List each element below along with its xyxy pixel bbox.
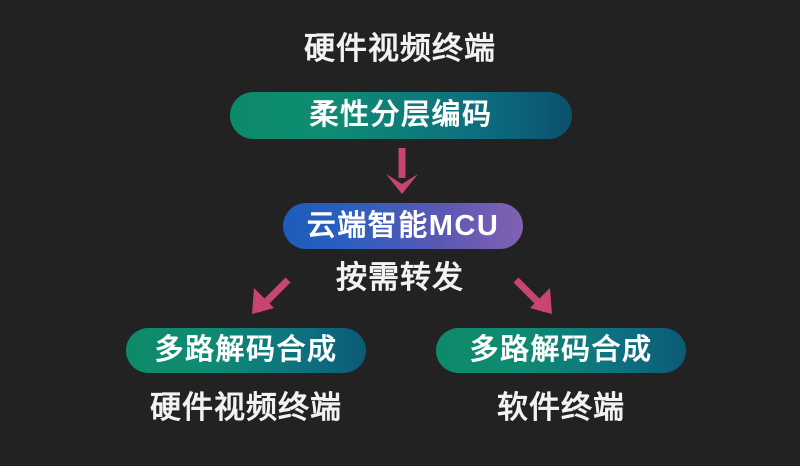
cloud-mcu-pill-node[interactable]: 云端智能MCU xyxy=(283,203,523,249)
decode-pill-node-left[interactable]: 多路解码合成 xyxy=(126,328,366,373)
decode-pill-label-left: 多路解码合成 xyxy=(154,336,337,365)
top-terminal-label: 硬件视频终端 xyxy=(0,33,800,64)
encode-pill-label: 柔性分层编码 xyxy=(309,101,492,130)
bottom-software-terminal-label: 软件终端 xyxy=(436,392,686,423)
arrow-down-right-icon xyxy=(512,278,556,318)
bottom-hardware-terminal-label: 硬件视频终端 xyxy=(126,392,366,423)
decode-pill-node-right[interactable]: 多路解码合成 xyxy=(436,328,686,373)
on-demand-forward-label: 按需转发 xyxy=(0,262,800,293)
cloud-mcu-pill-label: 云端智能MCU xyxy=(307,212,500,241)
flow-diagram-canvas: 硬件视频终端 柔性分层编码 云端智能MCU 按需转发 多路解码合成 多路解码合成… xyxy=(0,0,800,466)
arrow-down-left-icon xyxy=(248,278,292,318)
arrow-down-icon xyxy=(382,148,422,196)
decode-pill-label-right: 多路解码合成 xyxy=(469,336,652,365)
encode-pill-node[interactable]: 柔性分层编码 xyxy=(230,92,572,139)
